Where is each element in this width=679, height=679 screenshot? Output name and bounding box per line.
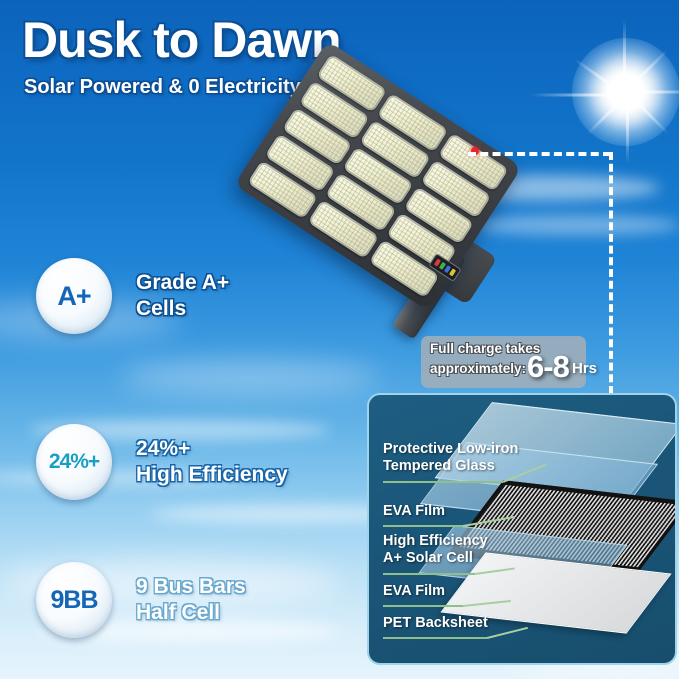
badge-circle-grade: A+	[36, 258, 112, 334]
badge-label-grade: A+	[57, 281, 90, 312]
layer-rule-glass	[383, 481, 503, 483]
feature-text-efficiency: 24%+ High Efficiency	[136, 436, 288, 487]
layer-rule-eva-top	[383, 525, 463, 527]
feature-line1-efficiency: 24%+	[136, 437, 190, 460]
feature-line2-busbars: Half Cell	[136, 600, 246, 626]
layer-label-tempered-glass: Protective Low-iron Tempered Glass	[383, 441, 518, 476]
product-marketing-image: Dusk to Dawn Solar Powered & 0 Electrici…	[0, 0, 679, 679]
layer-label-line1-eva-top: EVA Film	[383, 503, 445, 519]
layer-rule-cell	[383, 573, 475, 575]
feature-text-busbars: 9 Bus Bars Half Cell	[136, 574, 246, 625]
feature-text-grade: Grade A+ Cells	[136, 270, 229, 321]
callout-dashed-line-top	[468, 152, 611, 156]
layer-label-pet-backsheet: PET Backsheet	[383, 615, 488, 632]
callout-dashed-line-right	[609, 152, 613, 394]
layer-label-line1-cell: High Efficiency	[383, 533, 488, 549]
charge-time-unit: Hrs	[572, 360, 597, 377]
feature-bus-bars: 9BB 9 Bus Bars Half Cell	[36, 562, 246, 638]
layer-label-line1-glass: Protective Low-iron	[383, 441, 518, 457]
layer-label-line1-eva-bottom: EVA Film	[383, 583, 445, 599]
charge-time-hours: 6-8	[527, 349, 569, 385]
badge-circle-efficiency: 24%+	[36, 424, 112, 500]
layer-label-line1-pet: PET Backsheet	[383, 615, 488, 631]
feature-high-efficiency: 24%+ 24%+ High Efficiency	[36, 424, 288, 500]
feature-line2-grade: Cells	[136, 296, 229, 322]
page-title: Dusk to Dawn	[22, 14, 341, 67]
feature-grade-a-plus: A+ Grade A+ Cells	[36, 258, 229, 334]
layer-leader-pet	[487, 627, 528, 639]
badge-label-busbars: 9BB	[50, 586, 97, 615]
layer-label-line2-glass: Tempered Glass	[383, 458, 495, 474]
solar-street-light-product	[246, 84, 546, 374]
feature-line1-grade: Grade A+	[136, 271, 229, 294]
layer-rule-eva-bottom	[383, 605, 463, 607]
layer-label-eva-bottom: EVA Film	[383, 583, 445, 600]
layer-label-line2-cell: A+ Solar Cell	[383, 550, 473, 566]
badge-label-efficiency: 24%+	[49, 450, 99, 474]
layer-label-eva-top: EVA Film	[383, 503, 445, 520]
layer-label-solar-cell: High Efficiency A+ Solar Cell	[383, 533, 488, 568]
feature-line1-busbars: 9 Bus Bars	[136, 575, 246, 598]
sun-icon	[556, 22, 679, 162]
layer-rule-pet	[383, 637, 487, 639]
solar-panel-layers-diagram: Protective Low-iron Tempered Glass EVA F…	[367, 393, 677, 665]
feature-line2-efficiency: High Efficiency	[136, 462, 288, 488]
badge-circle-busbars: 9BB	[36, 562, 112, 638]
